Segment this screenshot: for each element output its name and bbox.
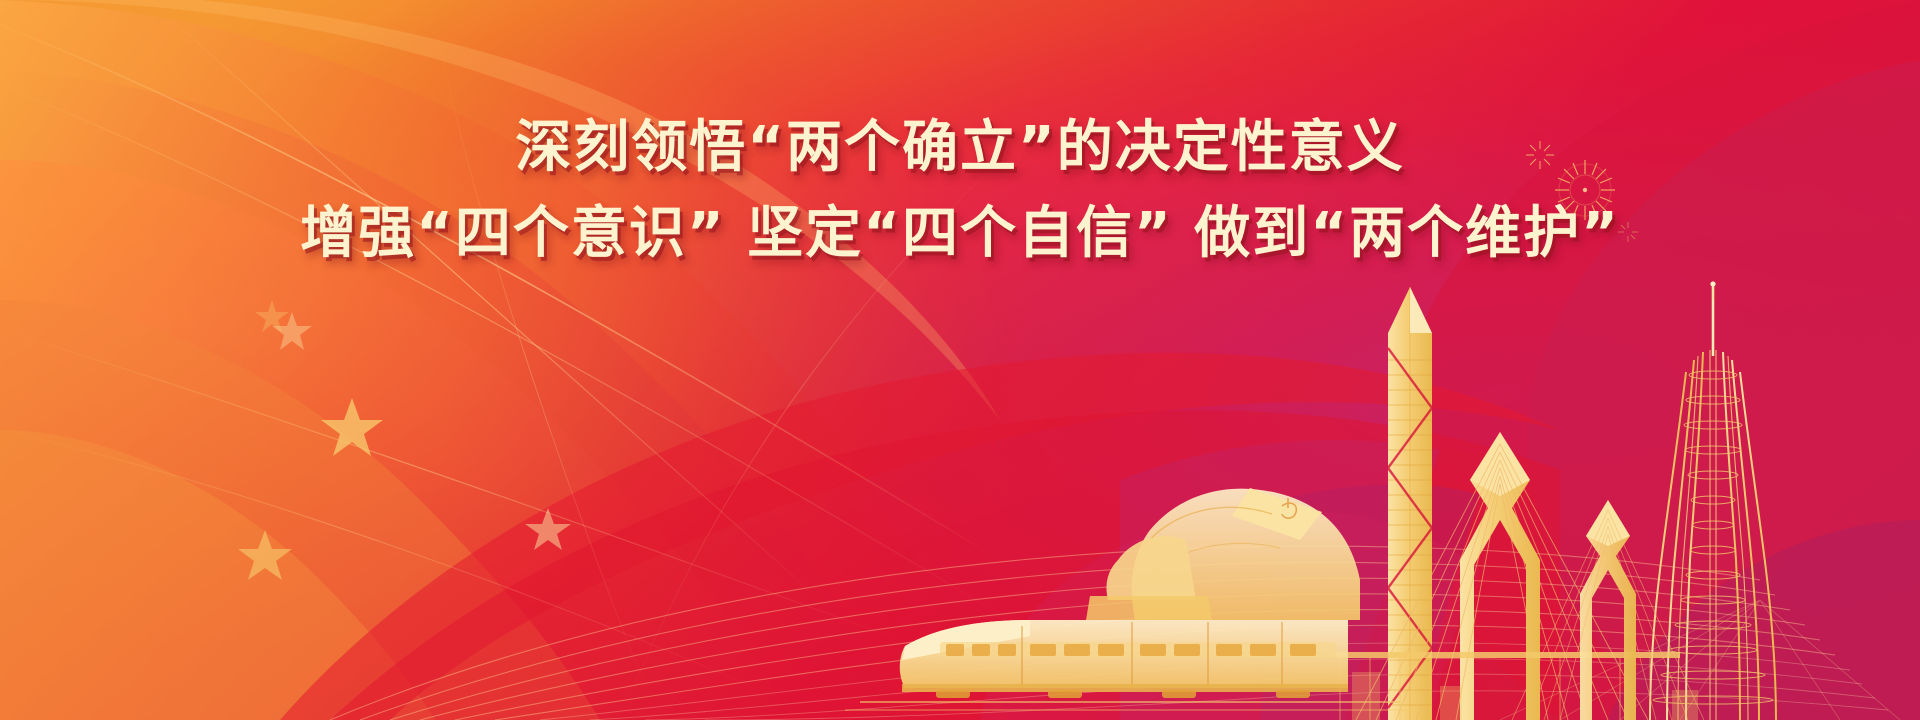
banner-canvas: 深刻领悟“两个确立”的决定性意义 增强“四个意识” 坚定“四个自信” 做到“两个… <box>0 0 1920 720</box>
background-gradient-layer <box>0 0 1920 720</box>
